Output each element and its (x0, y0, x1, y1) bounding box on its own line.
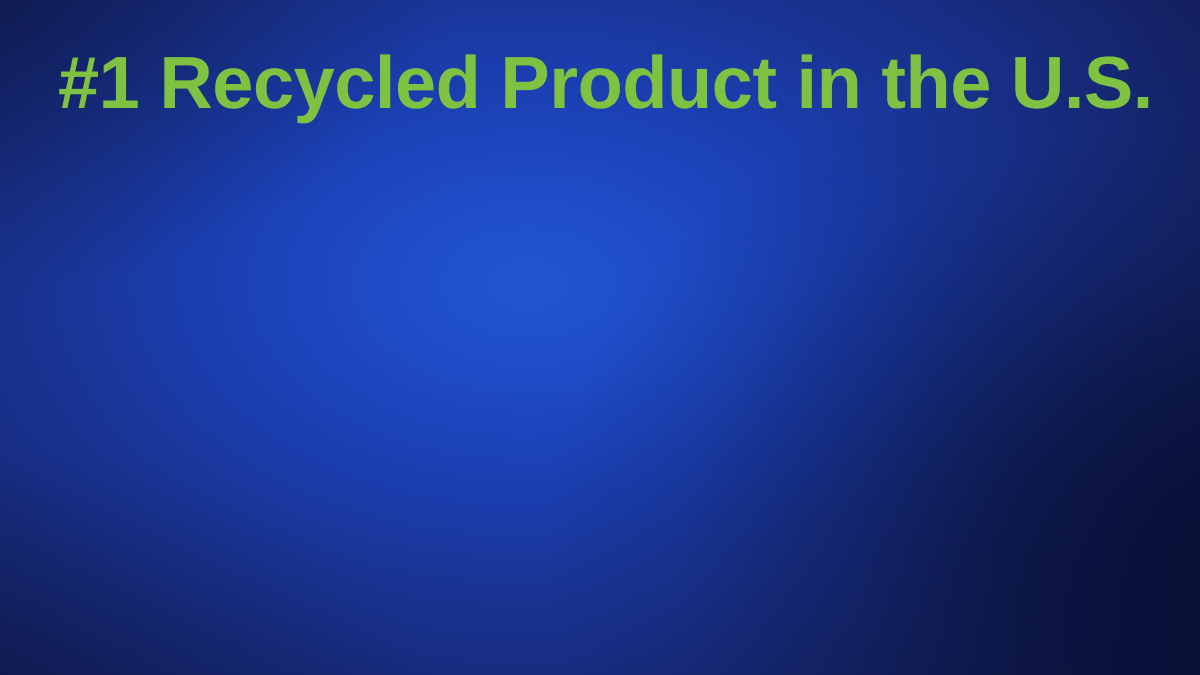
presentation-slide: #1 Recycled Product in the U.S. (0, 0, 1200, 675)
headline-container: #1 Recycled Product in the U.S. (0, 0, 1200, 165)
slide-headline: #1 Recycled Product in the U.S. (58, 46, 1153, 120)
